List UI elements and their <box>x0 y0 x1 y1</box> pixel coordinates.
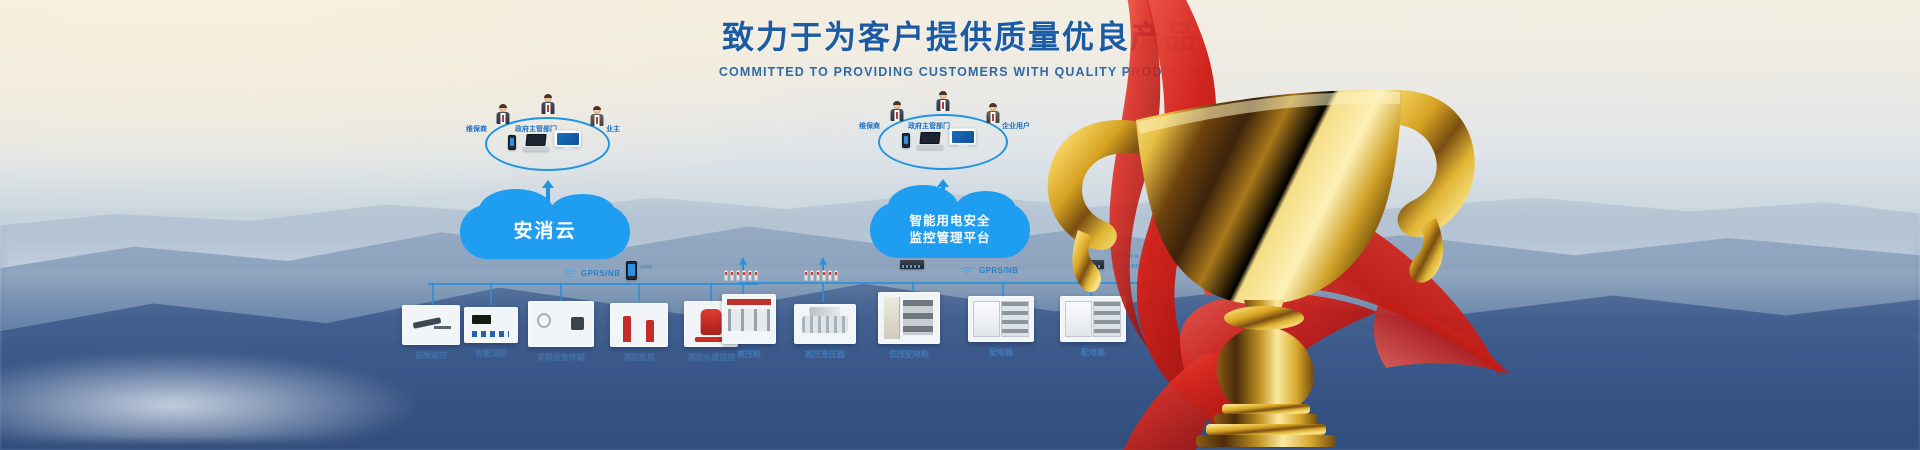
left-terminal-phone-icon <box>508 135 516 150</box>
left-role-icon-0 <box>496 105 509 124</box>
right-terminal-laptop-icon <box>917 132 943 149</box>
left-app-tag: APP <box>640 265 652 271</box>
right-antenna-icon-1 <box>822 258 824 270</box>
left-role-icon-1 <box>541 95 554 114</box>
right-device-0[interactable]: 高压柜 <box>722 294 776 360</box>
right-role-icon-1 <box>936 92 949 111</box>
right-role-icon-0 <box>890 102 903 121</box>
left-device-0[interactable]: 视频监控 <box>402 305 460 361</box>
right-device-label-0: 高压柜 <box>722 349 776 360</box>
right-drop-1 <box>822 282 824 302</box>
left-device-label-1: 智能消防 <box>464 348 518 359</box>
left-device-2[interactable]: 关联业务传输 <box>528 301 594 363</box>
low-voltage-cabinet-icon <box>878 292 940 344</box>
right-device-2[interactable]: 低压配电柜 <box>878 292 940 360</box>
right-meters-1 <box>804 270 838 281</box>
trophy-ribbon-svg <box>950 0 1590 450</box>
left-app-phone-icon <box>626 261 637 280</box>
left-cloud-label: 安消云 <box>513 219 576 245</box>
left-drop-0 <box>432 283 434 305</box>
right-role-label-0: 维保商 <box>859 121 880 131</box>
background-mist-low <box>0 351 422 441</box>
right-terminal-phone-icon <box>902 133 910 148</box>
left-device-label-2: 关联业务传输 <box>528 352 594 363</box>
left-device-1[interactable]: 智能消防 <box>464 307 518 359</box>
right-device-label-2: 低压配电柜 <box>878 349 940 360</box>
right-device-label-1: 高压变压器 <box>794 349 856 360</box>
right-device-1[interactable]: 高压变压器 <box>794 304 856 360</box>
left-terminal-monitor-icon <box>554 130 581 151</box>
wifi-icon <box>560 267 577 279</box>
left-cloud-platform[interactable]: 安消云 <box>460 205 630 259</box>
camera-device-icon <box>402 305 460 345</box>
left-link-label: GPRS/NB <box>581 269 620 278</box>
control-panel-device-icon <box>464 307 518 343</box>
right-monitor-node-0 <box>900 260 924 269</box>
gold-trophy-icon <box>1048 90 1475 447</box>
left-device-label-0: 视频监控 <box>402 350 460 361</box>
transformer-icon <box>794 304 856 344</box>
left-diagram-cluster: 维保商 政府主管部门 业主 安消云 GPRS/NB APP <box>420 95 780 415</box>
right-meters-0 <box>724 270 758 281</box>
transmission-device-icon <box>528 301 594 347</box>
left-device-3[interactable]: 消防泵房 <box>610 303 668 363</box>
left-role-label-2: 业主 <box>606 124 620 134</box>
high-voltage-cabinet-icon <box>722 294 776 344</box>
left-drop-1 <box>490 283 492 305</box>
hero-trophy-group <box>950 0 1590 450</box>
right-role-label-1: 政府主管部门 <box>908 121 950 131</box>
left-terminal-laptop-icon <box>523 134 549 151</box>
left-bus-line <box>428 283 758 285</box>
right-antenna-icon-0 <box>742 258 744 270</box>
left-drop-3 <box>638 283 640 301</box>
promo-banner: 致力于为客户提供质量优良产品 COMMITTED TO PROVIDING CU… <box>0 0 1920 450</box>
fire-pump-device-icon <box>610 303 668 347</box>
left-role-label-1: 政府主管部门 <box>515 124 557 134</box>
left-link-wifi: GPRS/NB <box>560 267 620 279</box>
left-role-icon-2 <box>590 107 603 126</box>
left-role-label-0: 维保商 <box>466 124 487 134</box>
left-device-label-3: 消防泵房 <box>610 352 668 363</box>
